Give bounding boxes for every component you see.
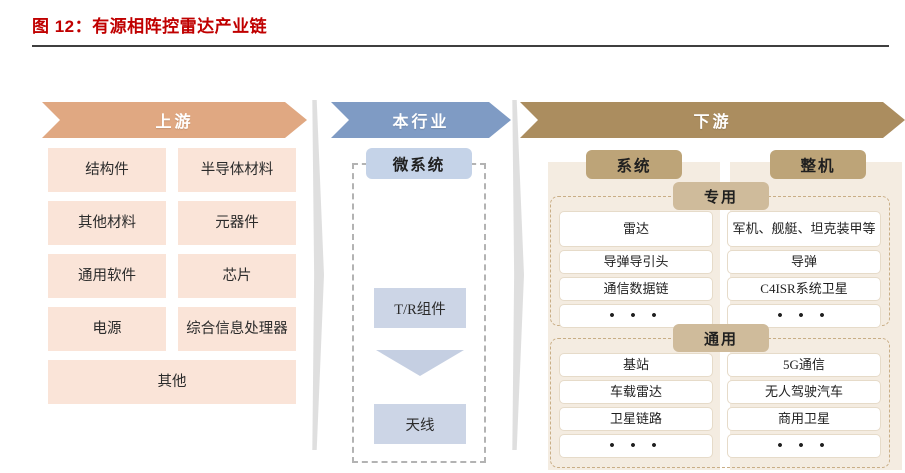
list-item: 雷达 [559,211,713,247]
upstream-column: 结构件 半导体材料 其他材料 元器件 通用软件 芯片 电源 综合信息处理器 其他 [48,148,313,404]
title-divider [32,45,889,47]
industry-column: 微系统 T/R组件 天线 [330,148,508,473]
upstream-item: 半导体材料 [178,148,296,192]
list-item: 车载雷达 [559,380,713,404]
downstream-column: 系统 整机 专用 雷达 导弹导引头 通信数据链 • • • 军机、舰艇、坦克装甲… [520,148,905,473]
downstream-group-special: 专用 雷达 导弹导引头 通信数据链 • • • 军机、舰艇、坦克装甲等 导弹 C… [550,196,890,326]
upstream-item: 电源 [48,307,166,351]
list-item: 导弹导引头 [559,250,713,274]
banner-upstream-label: 上游 [155,108,193,132]
list-item: 无人驾驶汽车 [727,380,881,404]
downstream-group-special-right: 军机、舰艇、坦克装甲等 导弹 C4ISR系统卫星 • • • [727,211,881,319]
banner-industry-label: 本行业 [392,108,449,132]
banner-upstream: 上游 [42,102,307,138]
upstream-item: 其他材料 [48,201,166,245]
upstream-item: 元器件 [178,201,296,245]
industry-box-tr-module: T/R组件 [374,288,466,328]
list-item: 导弹 [727,250,881,274]
banner-downstream: 下游 [520,102,905,138]
list-item: 通信数据链 [559,277,713,301]
list-item: C4ISR系统卫星 [727,277,881,301]
list-item: 商用卫星 [727,407,881,431]
upstream-item: 芯片 [178,254,296,298]
industry-box-antenna: 天线 [374,404,466,444]
list-item-ellipsis: • • • [727,434,881,458]
value-chain-diagram: 上游 本行业 下游 结构件 半导体材料 其他材料 元器件 通用软件 芯片 电源 … [0,62,905,473]
downstream-group-general-right: 5G通信 无人驾驶汽车 商用卫星 • • • [727,353,881,461]
downstream-group-general-label: 通用 [673,324,769,352]
list-item: 卫星链路 [559,407,713,431]
list-item: 军机、舰艇、坦克装甲等 [727,211,881,247]
downstream-header-whole-machine: 整机 [770,150,866,179]
upstream-item-grid: 结构件 半导体材料 其他材料 元器件 通用软件 芯片 电源 综合信息处理器 其他 [48,148,313,404]
banner-downstream-label: 下游 [693,108,731,132]
downstream-group-general-left: 基站 车载雷达 卫星链路 • • • [559,353,713,461]
downstream-group-special-left: 雷达 导弹导引头 通信数据链 • • • [559,211,713,319]
list-item: 基站 [559,353,713,377]
downstream-group-special-label: 专用 [673,182,769,210]
microsystem-label: 微系统 [366,148,472,179]
downstream-group-general: 通用 基站 车载雷达 卫星链路 • • • 5G通信 无人驾驶汽车 商用卫星 •… [550,338,890,468]
downstream-group-special-columns: 雷达 导弹导引头 通信数据链 • • • 军机、舰艇、坦克装甲等 导弹 C4IS… [559,211,881,319]
downstream-header-system: 系统 [586,150,682,179]
banner-industry: 本行业 [331,102,511,138]
upstream-item-other: 其他 [48,360,296,404]
upstream-item: 综合信息处理器 [178,307,296,351]
page-title: 图 12：有源相阵控雷达产业链 [32,12,267,37]
upstream-item: 通用软件 [48,254,166,298]
list-item: 5G通信 [727,353,881,377]
figure-header: 图 12：有源相阵控雷达产业链 [0,0,905,62]
downstream-group-general-columns: 基站 车载雷达 卫星链路 • • • 5G通信 无人驾驶汽车 商用卫星 • • … [559,353,881,461]
upstream-item: 结构件 [48,148,166,192]
list-item-ellipsis: • • • [559,434,713,458]
